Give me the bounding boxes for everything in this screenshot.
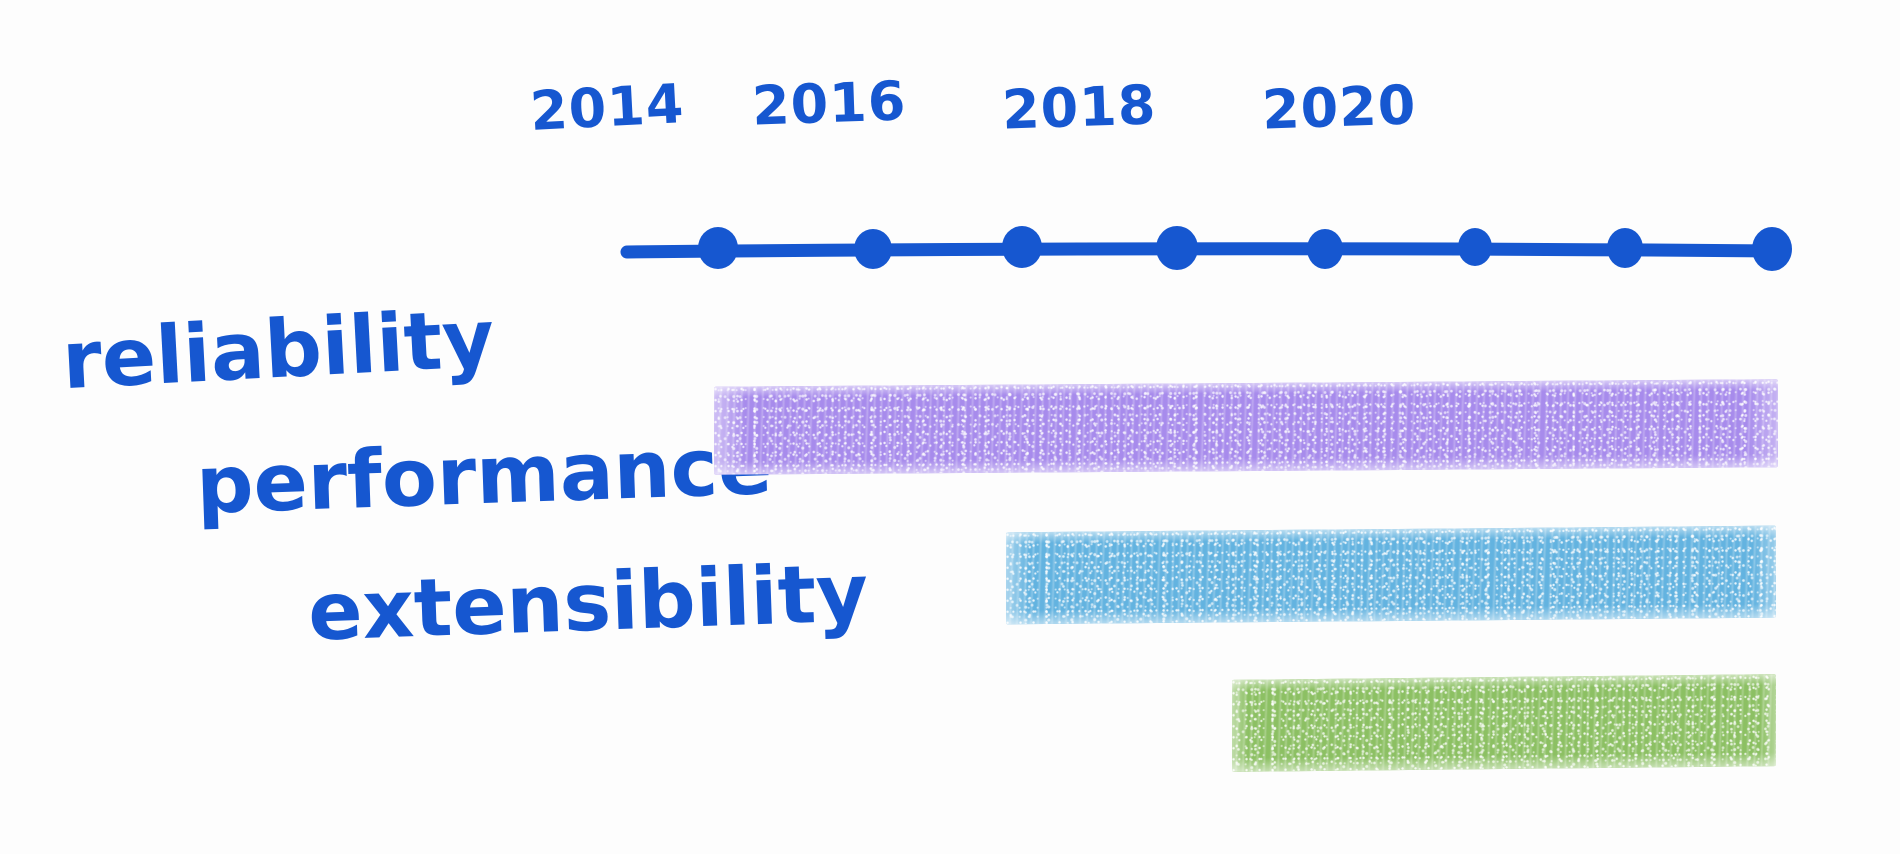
bar-performance [1006,526,1776,625]
axis-tick-dot [1607,228,1643,268]
category-label-performance: performance [195,426,774,526]
bar-extensibility [1232,674,1776,772]
axis-year-label: 2018 [1001,73,1157,141]
bar-reliability [714,379,1778,474]
category-label-reliability: reliability [60,299,496,402]
axis-year-label: 2016 [751,69,907,137]
axis-tick-dot [1458,228,1492,266]
axis-tick-dot [1156,226,1198,270]
axis-year-label: 2020 [1261,73,1417,141]
axis-tick-dot [854,229,892,269]
axis-tick-dot [1307,229,1343,269]
axis-year-label: 2014 [528,72,685,143]
category-label-extensibility: extensibility [307,553,870,653]
axis-tick-dot [1752,227,1792,271]
axis-line [627,249,1778,252]
axis-tick-dot [1002,226,1042,268]
timeline-chart: 2014201620182020 reliabilityperformancee… [0,0,1900,854]
axis-tick-dot [698,227,738,269]
